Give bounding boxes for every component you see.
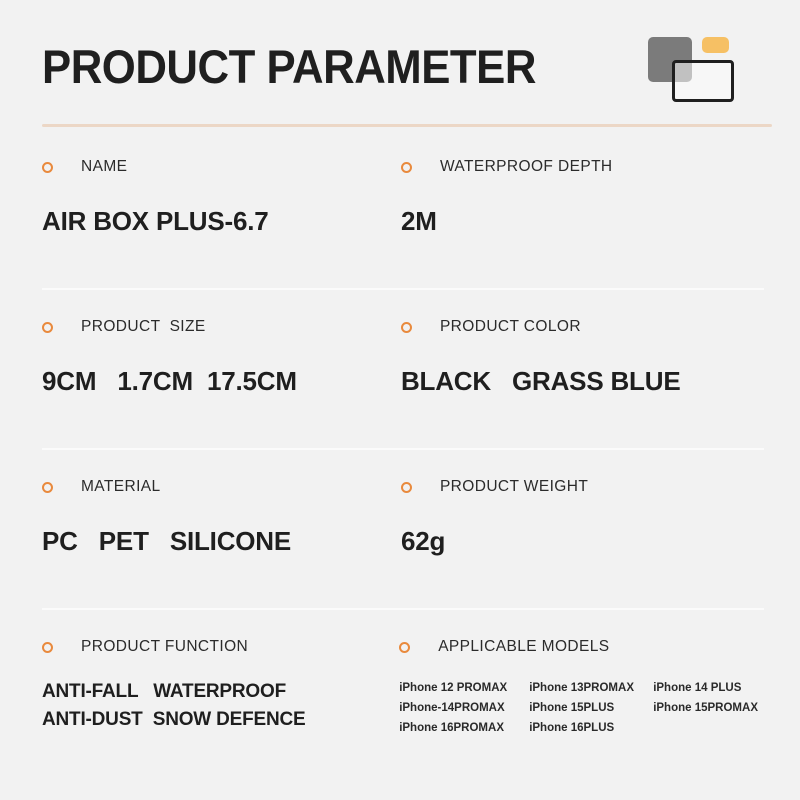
spec-label: PRODUCT WEIGHT — [401, 478, 758, 496]
spec-cell-product-color: PRODUCT COLOR BLACK GRASS BLUE — [401, 288, 758, 448]
spec-cell-name: NAME AIR BOX PLUS-6.7 — [42, 128, 401, 288]
spec-label-text: APPLICABLE MODELS — [438, 638, 609, 656]
spec-value-text: PC PET SILICONE — [42, 524, 401, 558]
spec-value-text: 2M — [401, 204, 758, 238]
spec-label-text: MATERIAL — [81, 478, 161, 496]
spec-label: WATERPROOF DEPTH — [401, 158, 758, 176]
model-item: iPhone-14PROMAX — [399, 702, 529, 714]
spec-value-text: 62g — [401, 524, 758, 558]
function-line: ANTI-DUST SNOW DEFENCE — [42, 706, 399, 734]
function-line: ANTI-FALL WATERPROOF — [42, 678, 399, 706]
product-parameter-sheet: PRODUCT PARAMETER NAME AIR BOX PLUS-6.7 … — [0, 0, 800, 800]
spec-label-text: PRODUCT SIZE — [81, 318, 206, 336]
spec-cell-product-size: PRODUCT SIZE 9CM 1.7CM 17.5CM — [42, 288, 401, 448]
brand-logo — [646, 34, 730, 98]
spec-label: APPLICABLE MODELS — [399, 638, 758, 656]
ring-bullet-icon — [42, 162, 53, 173]
spec-cell-material: MATERIAL PC PET SILICONE — [42, 448, 401, 608]
spec-row: PRODUCT FUNCTION ANTI-FALL WATERPROOF AN… — [42, 608, 758, 758]
spec-label-text: PRODUCT COLOR — [440, 318, 581, 336]
model-item: iPhone 16PLUS — [529, 722, 653, 734]
spec-value-text: BLACK GRASS BLUE — [401, 364, 758, 398]
logo-orange-bar-icon — [702, 37, 729, 53]
model-item: iPhone 15PLUS — [529, 702, 653, 714]
title-divider — [42, 124, 772, 127]
ring-bullet-icon — [401, 482, 412, 493]
spec-cell-product-function: PRODUCT FUNCTION ANTI-FALL WATERPROOF AN… — [42, 608, 399, 758]
spec-value-text: 9CM 1.7CM 17.5CM — [42, 364, 401, 398]
spec-label-text: PRODUCT FUNCTION — [81, 638, 248, 656]
sheet-header: PRODUCT PARAMETER — [42, 0, 758, 128]
model-item: iPhone 12 PROMAX — [399, 682, 529, 694]
model-item: iPhone 15PROMAX — [653, 702, 758, 714]
spec-row: MATERIAL PC PET SILICONE PRODUCT WEIGHT … — [42, 448, 758, 608]
spec-label-text: NAME — [81, 158, 127, 176]
spec-row: PRODUCT SIZE 9CM 1.7CM 17.5CM PRODUCT CO… — [42, 288, 758, 448]
ring-bullet-icon — [399, 642, 410, 653]
ring-bullet-icon — [401, 162, 412, 173]
spec-label: MATERIAL — [42, 478, 401, 496]
page-title: PRODUCT PARAMETER — [42, 43, 536, 90]
spec-label: PRODUCT SIZE — [42, 318, 401, 336]
spec-label: NAME — [42, 158, 401, 176]
model-item: iPhone 14 PLUS — [653, 682, 758, 694]
models-grid: iPhone 12 PROMAX iPhone 13PROMAX iPhone … — [399, 682, 758, 734]
ring-bullet-icon — [42, 322, 53, 333]
model-item: iPhone 16PROMAX — [399, 722, 529, 734]
spec-cell-applicable-models: APPLICABLE MODELS iPhone 12 PROMAX iPhon… — [399, 608, 758, 758]
spec-cell-product-weight: PRODUCT WEIGHT 62g — [401, 448, 758, 608]
ring-bullet-icon — [401, 322, 412, 333]
logo-outlined-rect-icon — [672, 60, 734, 102]
spec-cell-waterproof-depth: WATERPROOF DEPTH 2M — [401, 128, 758, 288]
spec-label-text: WATERPROOF DEPTH — [440, 158, 613, 176]
spec-label: PRODUCT FUNCTION — [42, 638, 399, 656]
spec-label: PRODUCT COLOR — [401, 318, 758, 336]
spec-row: NAME AIR BOX PLUS-6.7 WATERPROOF DEPTH 2… — [42, 128, 758, 288]
ring-bullet-icon — [42, 642, 53, 653]
spec-label-text: PRODUCT WEIGHT — [440, 478, 588, 496]
model-item: iPhone 13PROMAX — [529, 682, 653, 694]
ring-bullet-icon — [42, 482, 53, 493]
spec-value-text: AIR BOX PLUS-6.7 — [42, 204, 401, 238]
